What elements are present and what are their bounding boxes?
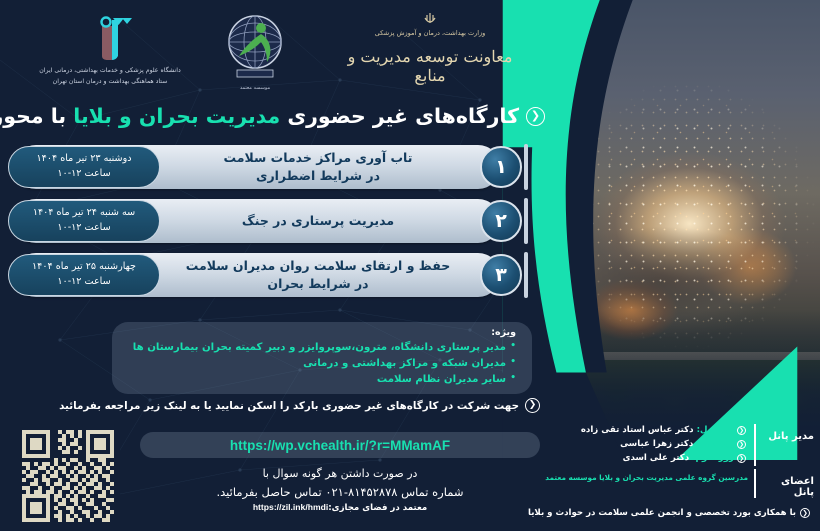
iums-logo-caption-2: ستاد هماهنگی بهداشت و درمان استان تهران: [30, 77, 190, 88]
workshop-time: ساعت ۱۲-۱۰: [57, 167, 110, 182]
page-title-text: کارگاه‌های غیر حضوری مدیریت بحران و بلای…: [0, 104, 519, 128]
globe-icon: [219, 8, 291, 80]
workshop-date: سه شنبه ۲۴ تیر ماه ۱۴۰۴: [33, 206, 135, 221]
workshop-list: ۱ تاب آوری مراکز خدمات سلامت در شرایط اض…: [14, 142, 524, 304]
poster-root: دانشگاه علوم پزشکی و خدمات بهداشتی، درما…: [0, 0, 820, 531]
panel-manager-list: ❮ روز اول: دکتر عباس استاد تقی زاده ❮ رو…: [534, 424, 748, 466]
panel-manager-text: روز اول: دکتر عباس استاد تقی زاده: [581, 424, 734, 438]
row-accent-bar: [524, 252, 528, 298]
workshop-title: حفظ و ارتقای سلامت روان مدیران سلامت در …: [164, 257, 472, 293]
page-title: ❮ کارگاه‌های غیر حضوری مدیریت بحران و بل…: [8, 104, 545, 128]
iran-emblem-icon: [423, 12, 437, 28]
panel-manager-text: روز سوم: دکتر علی اسدی: [623, 452, 734, 466]
audience-list: مدیر پرستاری دانشگاه، مترون،سوپروایزر و …: [124, 340, 516, 388]
panel-manager-label: مدیر پانل: [762, 424, 814, 442]
audience-item: سایر مدیران نظام سلامت: [124, 372, 516, 388]
workshop-title: تاب آوری مراکز خدمات سلامت در شرایط اضطر…: [164, 149, 472, 185]
workshop-plate: تاب آوری مراکز خدمات سلامت در شرایط اضطر…: [14, 145, 500, 189]
panel-footnote-text: با همکاری بورد تخصصی و انجمن علمی سلامت …: [528, 508, 796, 518]
row-accent-bar: [524, 198, 528, 244]
workshop-title-line-1: مدیریت پرستاری در جنگ: [242, 213, 394, 228]
workshop-number: ۲: [480, 200, 522, 242]
panel-members-row: اعضای پانل مدرسین گروه علمی مدیریت بحران…: [534, 469, 814, 498]
workshop-row[interactable]: ۲ مدیریت پرستاری در جنگ سه شنبه ۲۴ تیر م…: [14, 196, 524, 246]
ministry-line-2: معاونت توسعه مدیریت و منابع: [335, 47, 525, 85]
ministry-line-1: وزارت بهداشت، درمان و آموزش پزشکی: [335, 29, 525, 37]
workshop-time: ساعت ۱۲-۱۰: [57, 275, 110, 290]
iums-logo-mark: [30, 10, 190, 66]
contact-line-2: شماره تماس ۸۱۴۵۲۸۷۸-۰۲۱ تماس حاصل بفرمائ…: [140, 483, 540, 501]
panel-members-label: اعضای پانل: [762, 469, 814, 498]
title-highlight: مدیریت بحران و بلایا: [73, 104, 280, 128]
panel-divider: [754, 424, 756, 466]
audience-item: مدیر پرستاری دانشگاه، مترون،سوپروایزر و …: [124, 340, 516, 356]
workshop-number: ۳: [480, 254, 522, 296]
panel-manager-day: روز دوم:: [696, 439, 734, 449]
workshop-plate: حفظ و ارتقای سلامت روان مدیران سلامت در …: [14, 253, 500, 297]
workshop-title-line-2: در شرایط اضطراری: [256, 168, 380, 183]
panel-manager-item: ❮ روز سوم: دکتر علی اسدی: [534, 452, 746, 466]
workshop-date-pill: دوشنبه ۲۳ تیر ماه ۱۴۰۴ ساعت ۱۲-۱۰: [8, 146, 160, 188]
iums-logo-caption-1: دانشگاه علوم پزشکی و خدمات بهداشتی، درما…: [30, 66, 190, 77]
contact-line-1: در صورت داشتن هر گونه سوال با: [140, 466, 540, 483]
workshop-date-pill: سه شنبه ۲۴ تیر ماه ۱۴۰۴ ساعت ۱۲-۱۰: [8, 200, 160, 242]
workshop-date: چهارشنبه ۲۵ تیر ماه ۱۴۰۴: [32, 260, 136, 275]
chevron-left-circle-icon: ❮: [737, 440, 746, 449]
ministry-of-health-logo: وزارت بهداشت، درمان و آموزش پزشکی معاونت…: [335, 12, 525, 96]
panel-manager-row: مدیر پانل ❮ روز اول: دکتر عباس استاد تقی…: [534, 424, 814, 466]
panel-manager-item: ❮ روز دوم: دکتر زهرا عباسی: [534, 438, 746, 452]
header-logos: دانشگاه علوم پزشکی و خدمات بهداشتی، درما…: [0, 4, 545, 102]
panel-manager-name: دکتر زهرا عباسی: [620, 439, 696, 449]
workshop-date: دوشنبه ۲۳ تیر ماه ۱۴۰۴: [37, 152, 132, 167]
virtual-space-url[interactable]: https://zil.ink/hmdi: [253, 502, 328, 512]
workshop-title: مدیریت پرستاری در جنگ: [164, 212, 472, 230]
workshop-row[interactable]: ۱ تاب آوری مراکز خدمات سلامت در شرایط اض…: [14, 142, 524, 192]
hmdi-globe-logo: موسسه معتمد: [205, 8, 305, 100]
workshop-row[interactable]: ۳ حفظ و ارتقای سلامت روان مدیران سلامت د…: [14, 250, 524, 300]
title-part-1: کارگاه‌های غیر حضوری: [280, 104, 519, 128]
workshop-title-line-2: در شرایط بحران: [267, 276, 368, 291]
chevron-left-circle-icon: ❮: [526, 107, 545, 126]
panel-manager-day: روز سوم:: [692, 453, 734, 463]
audience-box: ویژه: مدیر پرستاری دانشگاه، مترون،سوپروا…: [112, 322, 532, 394]
panel-manager-name: دکتر علی اسدی: [623, 453, 693, 463]
workshop-time: ساعت ۱۲-۱۰: [57, 221, 110, 236]
virtual-space-label: معتمد در فضای مجازی:: [328, 503, 427, 513]
chevron-left-circle-icon: ❮: [525, 398, 540, 413]
hmdi-globe-caption: موسسه معتمد: [205, 85, 305, 91]
panel-manager-day: روز اول:: [697, 425, 734, 435]
registration-instruction-text: جهت شرکت در کارگاه‌های غیر حضوری بارکد ر…: [59, 400, 519, 412]
workshop-date-pill: چهارشنبه ۲۵ تیر ماه ۱۴۰۴ ساعت ۱۲-۱۰: [8, 254, 160, 296]
chevron-left-circle-icon: ❮: [737, 426, 746, 435]
panel-manager-name: دکتر عباس استاد تقی زاده: [581, 425, 697, 435]
audience-heading: ویژه:: [124, 327, 516, 338]
workshop-plate: مدیریت پرستاری در جنگ سه شنبه ۲۴ تیر ماه…: [14, 199, 500, 243]
title-part-2: با محوریت: [0, 104, 73, 128]
workshop-number: ۱: [480, 146, 522, 188]
qr-code[interactable]: [16, 424, 120, 528]
registration-url[interactable]: https://wp.vchealth.ir/?r=MMamAF: [230, 438, 450, 453]
panel-manager-item: ❮ روز اول: دکتر عباس استاد تقی زاده: [534, 424, 746, 438]
chevron-left-circle-icon: ❮: [737, 454, 746, 463]
virtual-space-line: معتمد در فضای مجازی:https://zil.ink/hmdi: [140, 502, 540, 513]
panel-manager-text: روز دوم: دکتر زهرا عباسی: [620, 438, 734, 452]
iums-logo: دانشگاه علوم پزشکی و خدمات بهداشتی، درما…: [30, 10, 190, 98]
chevron-left-circle-icon: ❮: [800, 508, 810, 518]
workshop-title-line-1: حفظ و ارتقای سلامت روان مدیران سلامت: [186, 258, 450, 273]
registration-instruction: ❮ جهت شرکت در کارگاه‌های غیر حضوری بارکد…: [150, 398, 540, 413]
registration-link-bar[interactable]: https://wp.vchealth.ir/?r=MMamAF: [140, 432, 540, 458]
panel-members-text: مدرسین گروه علمی مدیریت بحران و بلایا مو…: [545, 469, 748, 484]
workshop-title-line-1: تاب آوری مراکز خدمات سلامت: [224, 150, 413, 165]
contact-block: در صورت داشتن هر گونه سوال با شماره تماس…: [140, 466, 540, 513]
panel-footnote: ❮ با همکاری بورد تخصصی و انجمن علمی سلام…: [524, 508, 814, 518]
panel-divider: [754, 469, 756, 498]
audience-item: مدیران شبکه و مراکز بهداشتی و درمانی: [124, 356, 516, 372]
panel-info: مدیر پانل ❮ روز اول: دکتر عباس استاد تقی…: [534, 424, 814, 501]
row-accent-bar: [524, 144, 528, 190]
